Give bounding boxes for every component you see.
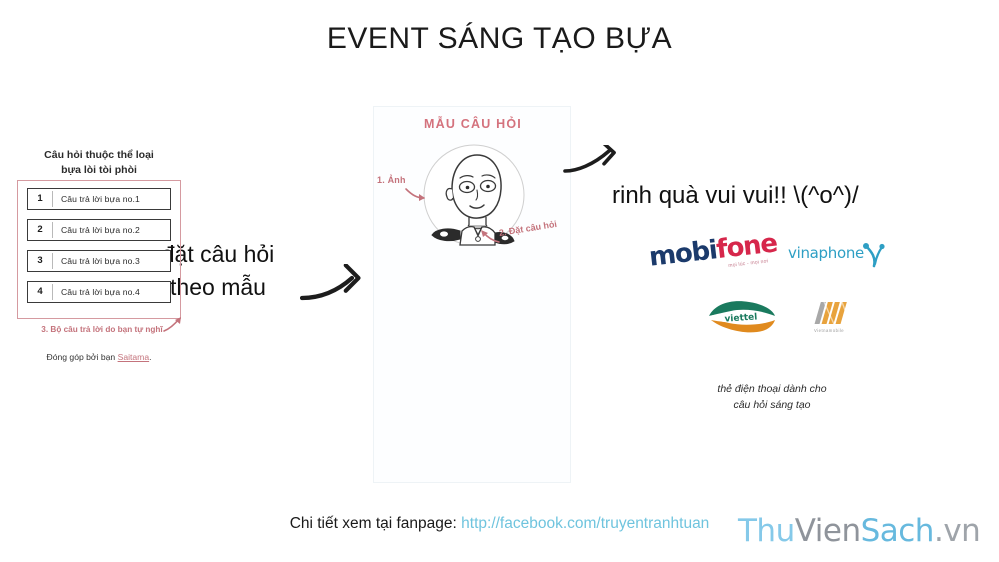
question-sample-line1: Câu hỏi thuộc thể loại xyxy=(0,148,198,163)
list-item[interactable]: 3 Câu trả lời bựa no.3 xyxy=(27,250,171,272)
fanpage-link[interactable]: http://facebook.com/truyentranhtuan xyxy=(461,515,709,532)
right-subcaption-line1: thẻ điện thoại dành cho xyxy=(672,381,872,397)
watermark-part1: Thu xyxy=(738,513,795,549)
mobifone-word-a: mobi xyxy=(648,235,719,272)
answer-number: 1 xyxy=(28,191,53,207)
vinaphone-swirl-icon xyxy=(862,242,888,273)
vinaphone-word: vinaphone xyxy=(788,244,864,262)
answer-number: 4 xyxy=(28,284,53,300)
answer-text: Câu trả lời bựa no.1 xyxy=(53,194,140,204)
credit-prefix: Đóng góp bởi bạn xyxy=(46,352,117,362)
site-watermark: ThuVienSach.vn xyxy=(738,513,980,549)
curved-arrow-right-icon xyxy=(563,145,625,183)
question-template-panel: MẪU CÂU HỎI xyxy=(373,106,571,483)
mobifone-logo-icon: mobifone mọi lúc - mọi nơi xyxy=(648,231,772,290)
right-subcaption-line2: câu hỏi sáng tạo xyxy=(672,397,872,413)
annotation-answers-label: 3. Bộ câu trả lời do bạn tự nghĩ xyxy=(27,325,177,334)
mobifone-word-b: fone xyxy=(715,228,779,265)
credit-author-name[interactable]: Saitama xyxy=(118,352,150,362)
panel-heading: MẪU CÂU HỎI xyxy=(374,117,572,131)
answers-list: 1 Câu trả lời bựa no.1 2 Câu trả lời bựa… xyxy=(17,180,181,319)
list-item[interactable]: 1 Câu trả lời bựa no.1 xyxy=(27,188,171,210)
watermark-part3: Sach xyxy=(861,513,934,549)
right-caption: rinh quà vui vui!! \(^o^)/ xyxy=(612,182,859,210)
credit-line: Đóng góp bởi bạn Saitama. xyxy=(0,352,198,362)
small-arrow-icon xyxy=(162,316,184,333)
answer-number: 3 xyxy=(28,253,53,269)
vietnamobile-logo-icon: Vietnamobile xyxy=(810,298,872,340)
answer-number: 2 xyxy=(28,222,53,238)
watermark-part2: Vien xyxy=(795,513,861,549)
right-subcaption: thẻ điện thoại dành cho câu hỏi sáng tạo xyxy=(672,381,872,414)
carrier-logos-group: mobifone mọi lúc - mọi nơi vinaphone vie… xyxy=(645,236,900,351)
small-arrow-icon xyxy=(404,186,430,202)
curved-arrow-right-icon xyxy=(300,264,366,308)
list-item[interactable]: 4 Câu trả lời bựa no.4 xyxy=(27,281,171,303)
viettel-logo-icon: viettel xyxy=(705,298,777,338)
answer-text: Câu trả lời bựa no.2 xyxy=(53,225,140,235)
slide-canvas: EVENT SÁNG TẠO BỰA đặt câu hỏi theo mẫu … xyxy=(0,0,999,562)
vietnamobile-wordmark: Vietnamobile xyxy=(814,328,844,333)
question-sample-text: Câu hỏi thuộc thể loại bựa lòi tòi phòi xyxy=(0,148,198,178)
list-item[interactable]: 2 Câu trả lời bựa no.2 xyxy=(27,219,171,241)
answer-text: Câu trả lời bựa no.4 xyxy=(53,287,140,297)
answer-text: Câu trả lời bựa no.3 xyxy=(53,256,140,266)
credit-suffix: . xyxy=(149,352,151,362)
vinaphone-logo-icon: vinaphone xyxy=(788,244,898,278)
watermark-part4: .vn xyxy=(934,513,980,549)
page-title: EVENT SÁNG TẠO BỰA xyxy=(0,22,999,56)
question-sample-line2: bựa lòi tòi phòi xyxy=(0,163,198,178)
annotation-photo-label: 1. Ảnh xyxy=(377,175,406,185)
footer-label: Chi tiết xem tại fanpage: xyxy=(290,515,457,532)
svg-text:viettel: viettel xyxy=(724,312,757,324)
